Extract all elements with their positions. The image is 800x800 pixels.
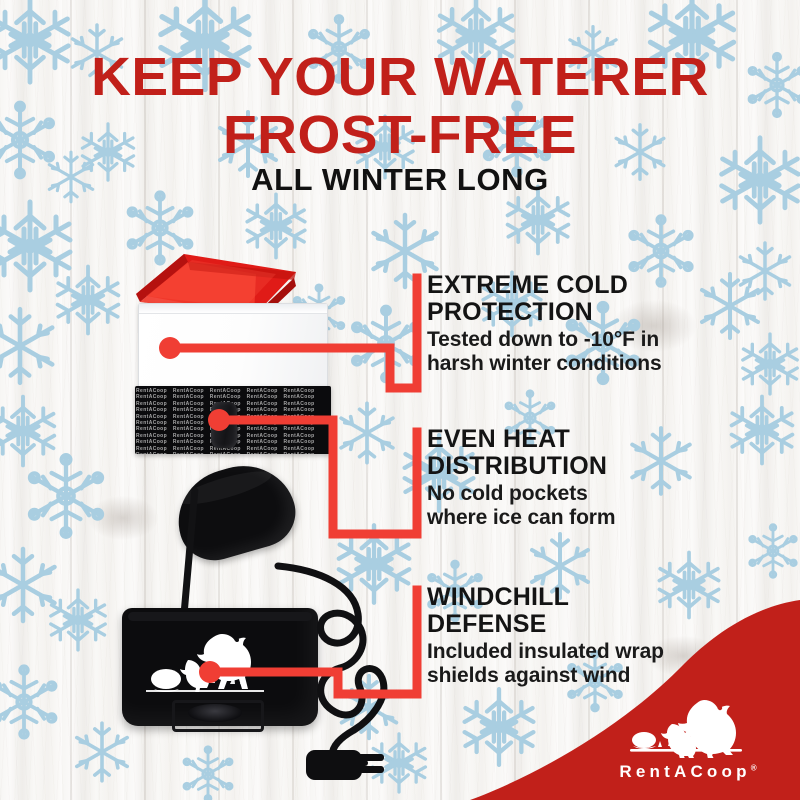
callout-title: EXTREME COLD PROTECTION	[427, 272, 727, 325]
callout-body-line-2: where ice can form	[427, 506, 727, 530]
callout-body: Tested down to -10°F in harsh winter con…	[427, 328, 727, 375]
callout-title-line-1: EXTREME COLD	[427, 272, 727, 299]
rentacoop-chicken-icon	[628, 696, 748, 758]
connector-path-2	[219, 420, 417, 534]
brand-wordmark: RentACoop®	[598, 762, 778, 782]
connector-dot-1	[159, 337, 181, 359]
connector-dot-2	[208, 409, 230, 431]
callout-body: No cold pockets where ice can form	[427, 482, 727, 529]
connector-dot-3	[199, 661, 221, 683]
callout-extreme-cold-protection: EXTREME COLD PROTECTION Tested down to -…	[427, 272, 727, 375]
callout-title: EVEN HEAT DISTRIBUTION	[427, 426, 727, 479]
registered-mark: ®	[751, 763, 757, 772]
callout-body-line-1: Tested down to -10°F in	[427, 328, 727, 352]
callout-title-line-2: DISTRIBUTION	[427, 453, 727, 480]
brand-logo: RentACoop®	[598, 696, 778, 782]
callout-even-heat-distribution: EVEN HEAT DISTRIBUTION No cold pockets w…	[427, 426, 727, 529]
brand-name: RentACoop	[619, 762, 750, 781]
connector-path-1	[170, 278, 417, 388]
callout-title-line-2: PROTECTION	[427, 299, 727, 326]
connector-path-3	[210, 590, 417, 694]
callout-body-line-2: harsh winter conditions	[427, 352, 727, 376]
callout-title-line-1: EVEN HEAT	[427, 426, 727, 453]
callout-body-line-1: No cold pockets	[427, 482, 727, 506]
brand-corner-wedge: RentACoop®	[470, 600, 800, 800]
poster-canvas: KEEP YOUR WATERER FROST-FREE ALL WINTER …	[0, 0, 800, 800]
